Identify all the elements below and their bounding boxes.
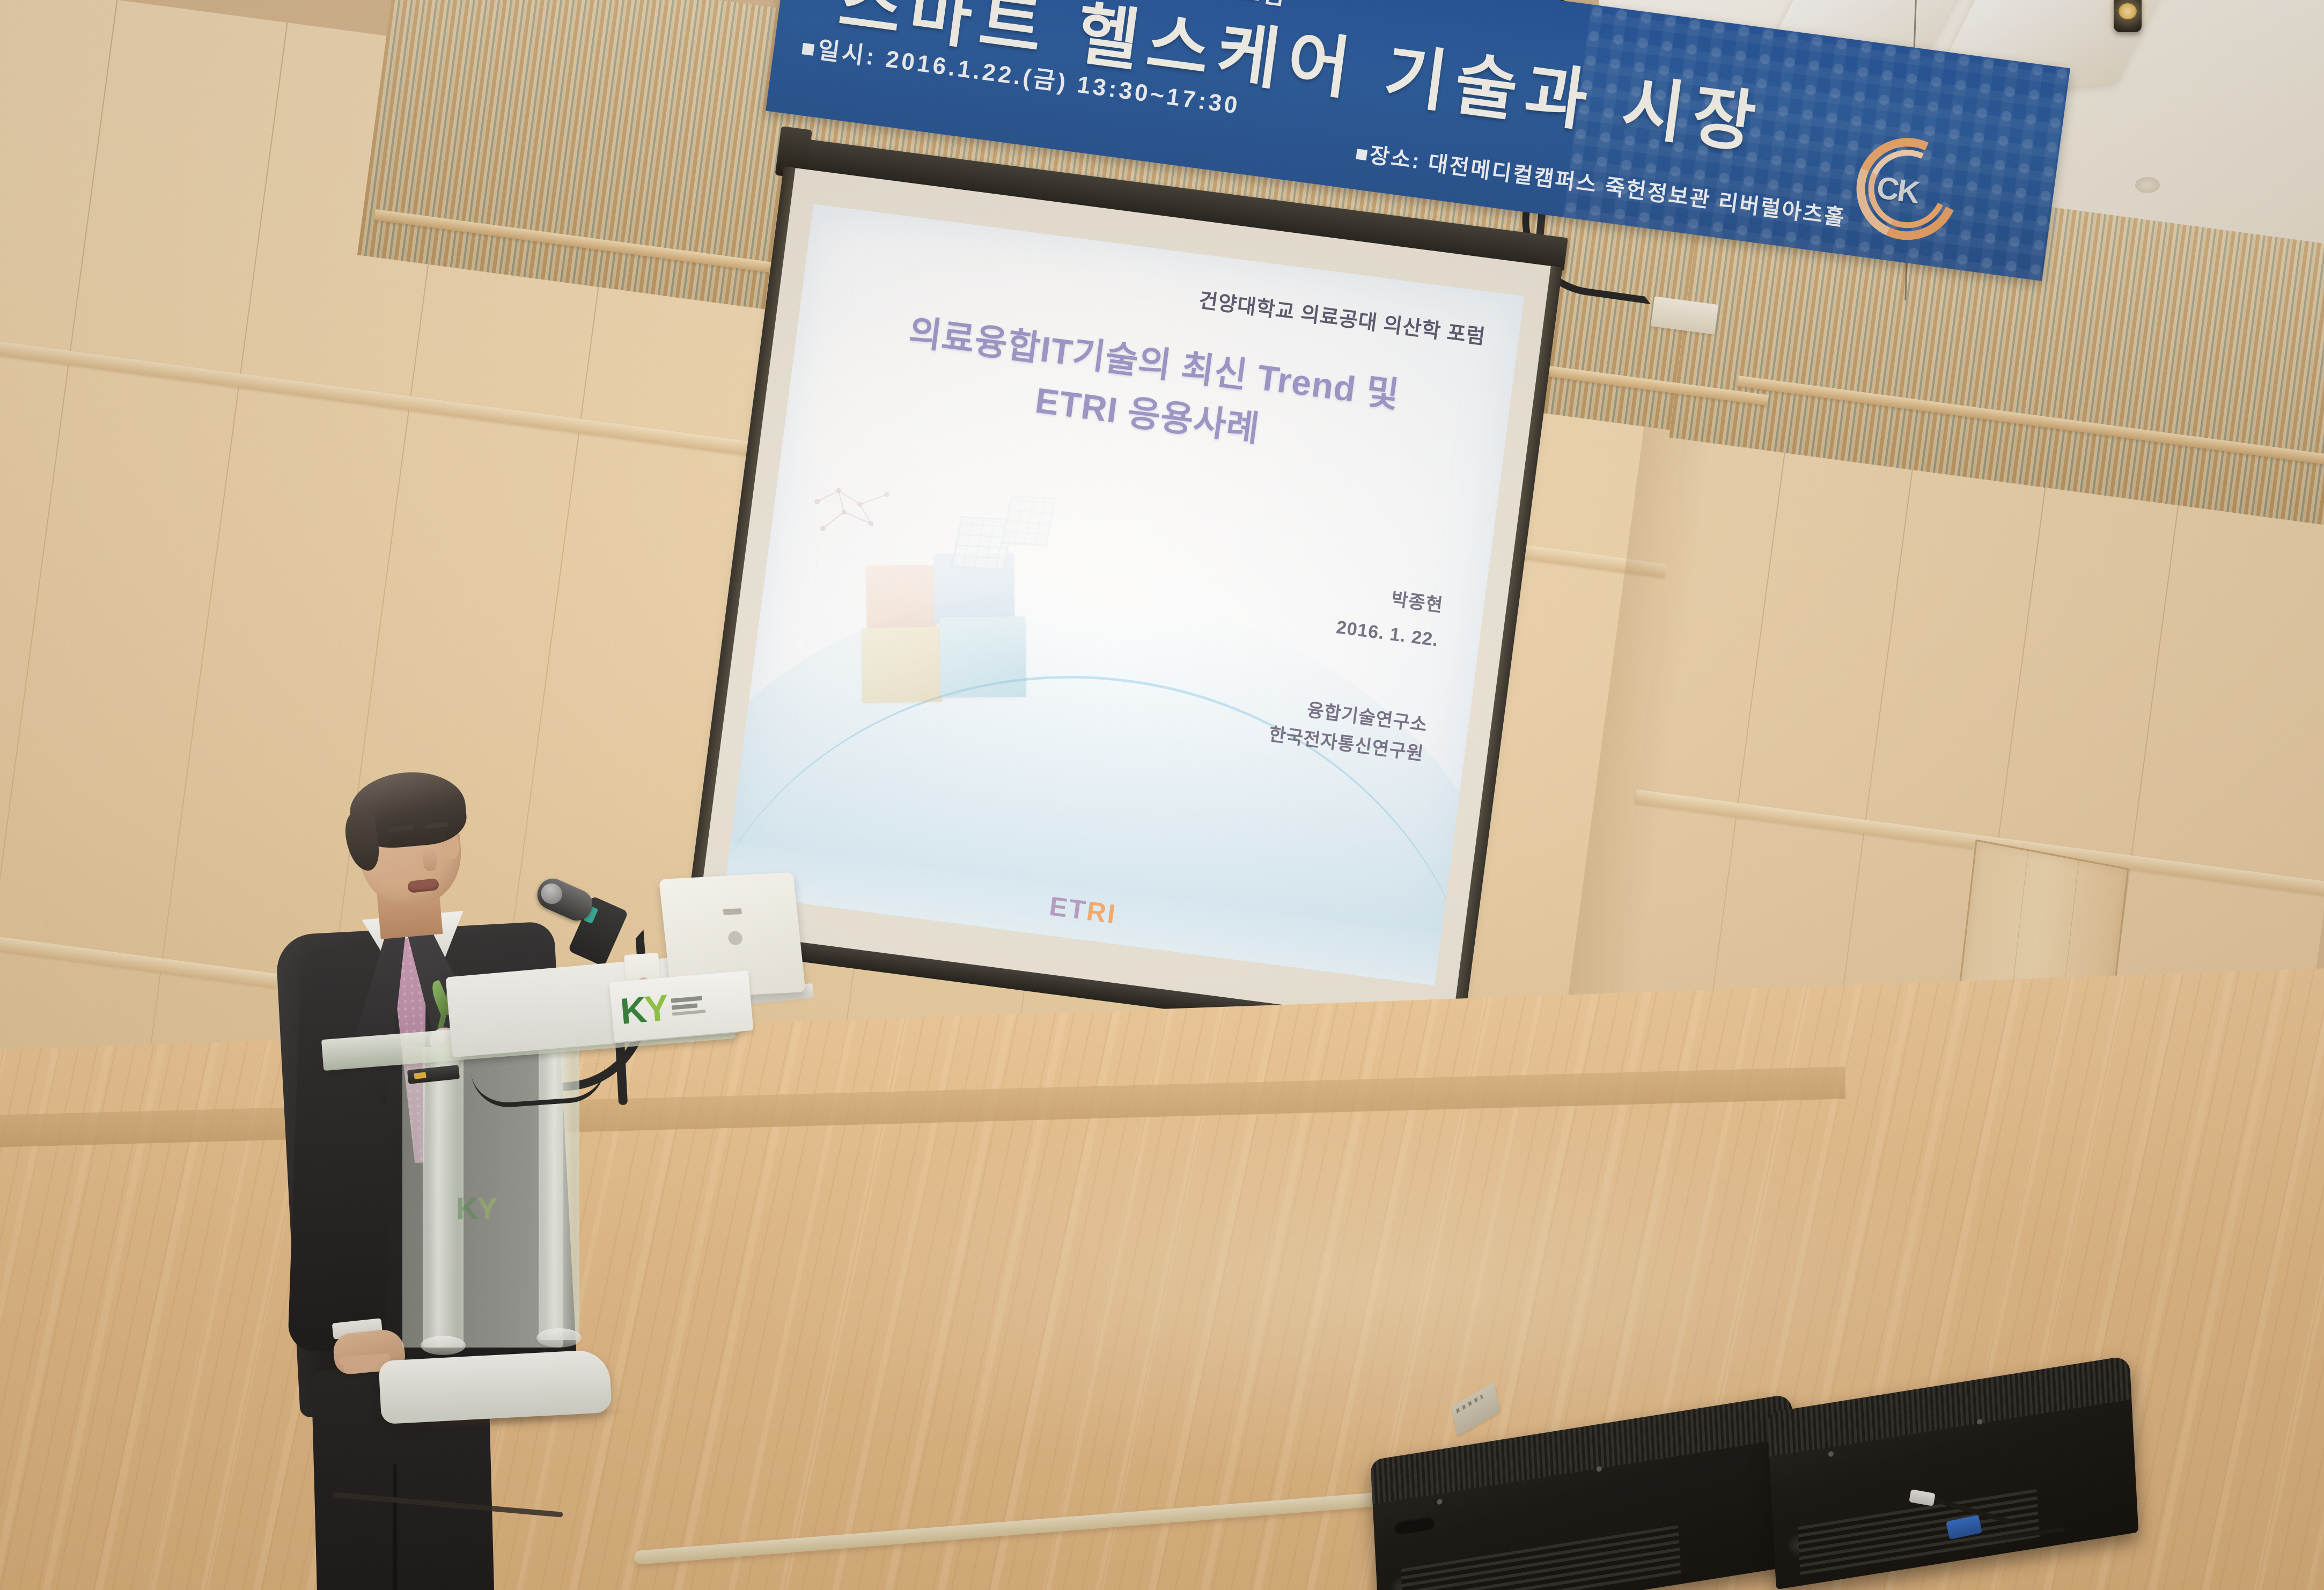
podium-logo-watermark: KY	[456, 1191, 496, 1227]
conference-scene: 사업단 의산학 포럼 스마트 헬스케어 기술과 시장 ■일시: 2016.1.2…	[0, 0, 2324, 1590]
ky-university-logo: KY	[619, 990, 668, 1030]
podium-nameplate: KY	[609, 970, 754, 1042]
podium-watermark-k: K	[456, 1191, 477, 1226]
monitor-handle	[1394, 1515, 1435, 1535]
slide-header: 건양대학교 의료공대 의산학 포럼	[1197, 283, 1488, 350]
ky-logo-k: K	[619, 991, 646, 1030]
ck-program-logo: CK	[1850, 132, 1965, 246]
podium-watermark-y: Y	[477, 1191, 496, 1226]
monitor-grille	[1401, 1525, 1681, 1590]
etri-logo-ri: RI	[1085, 896, 1119, 930]
etri-logo-et: ET	[1048, 891, 1089, 926]
ceiling-speaker-grille	[2135, 177, 2160, 193]
network-diagram-icon	[806, 479, 925, 571]
slide-collage-graphic	[801, 473, 1050, 727]
slide-presenter-block: 박종현 2016. 1. 22.	[1334, 576, 1445, 658]
ky-logo-subtext	[671, 996, 706, 1015]
projected-slide: 건양대학교 의료공대 의산학 포럼 의료융합IT기술의 최신 Trend 및 E…	[724, 204, 1524, 985]
projection-screen: 건양대학교 의료공대 의산학 포럼 의료융합IT기술의 최신 Trend 및 E…	[682, 137, 1592, 1063]
podium-base	[378, 1349, 612, 1424]
ck-logo-text: CK	[1874, 170, 1921, 211]
ky-logo-y: Y	[643, 990, 668, 1028]
ceiling-spotlight	[2114, 0, 2142, 32]
